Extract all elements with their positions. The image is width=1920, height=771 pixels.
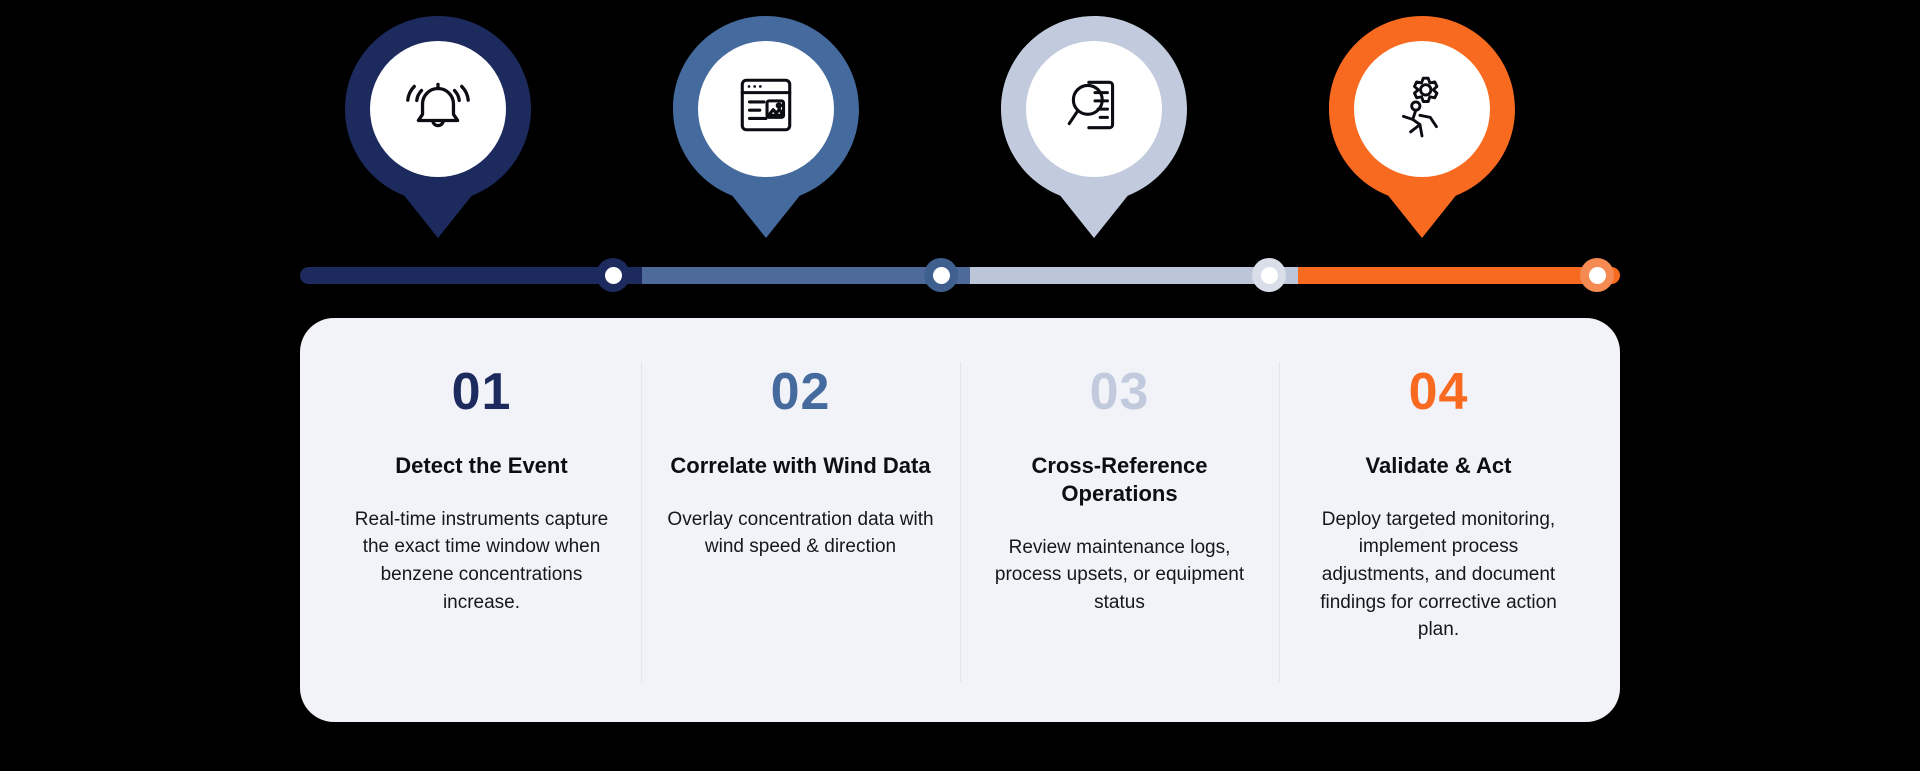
progress-node-4[interactable] bbox=[1580, 258, 1614, 292]
dashboard-window-icon bbox=[717, 56, 815, 154]
step-title: Correlate with Wind Data bbox=[667, 452, 934, 480]
step-marker-2[interactable] bbox=[673, 16, 859, 238]
step-column-2: 02 Correlate with Wind Data Overlay conc… bbox=[641, 348, 960, 696]
steps-columns: 01 Detect the Event Real-time instrument… bbox=[300, 318, 1620, 722]
steps-card: 01 Detect the Event Real-time instrument… bbox=[300, 318, 1620, 722]
infographic-root: 01 Detect the Event Real-time instrument… bbox=[0, 0, 1920, 771]
step-column-4: 04 Validate & Act Deploy targeted monito… bbox=[1279, 348, 1598, 696]
step-description: Deploy targeted monitoring, implement pr… bbox=[1305, 506, 1572, 644]
step-description: Real-time instruments capture the exact … bbox=[348, 506, 615, 616]
step-column-1: 01 Detect the Event Real-time instrument… bbox=[322, 348, 641, 696]
magnifier-document-icon bbox=[1045, 56, 1143, 154]
step-marker-3[interactable] bbox=[1001, 16, 1187, 238]
alarm-bell-icon bbox=[389, 56, 487, 154]
step-number: 01 bbox=[348, 366, 615, 418]
step-marker-1[interactable] bbox=[345, 16, 531, 238]
step-title: Cross-Reference Operations bbox=[986, 452, 1253, 508]
progress-node-3[interactable] bbox=[1252, 258, 1286, 292]
marker-row bbox=[0, 0, 1920, 250]
progress-node-1[interactable] bbox=[596, 258, 630, 292]
progress-bar bbox=[300, 258, 1620, 292]
step-number: 02 bbox=[667, 366, 934, 418]
progress-node-2[interactable] bbox=[924, 258, 958, 292]
step-number: 04 bbox=[1305, 366, 1572, 418]
step-title: Detect the Event bbox=[348, 452, 615, 480]
progress-segment-4 bbox=[1298, 267, 1620, 284]
step-description: Review maintenance logs, process upsets,… bbox=[986, 534, 1253, 617]
step-description: Overlay concentration data with wind spe… bbox=[667, 506, 934, 561]
gear-worker-icon bbox=[1373, 56, 1471, 154]
step-title: Validate & Act bbox=[1305, 452, 1572, 480]
step-number: 03 bbox=[986, 366, 1253, 418]
step-column-3: 03 Cross-Reference Operations Review mai… bbox=[960, 348, 1279, 696]
step-marker-4[interactable] bbox=[1329, 16, 1515, 238]
